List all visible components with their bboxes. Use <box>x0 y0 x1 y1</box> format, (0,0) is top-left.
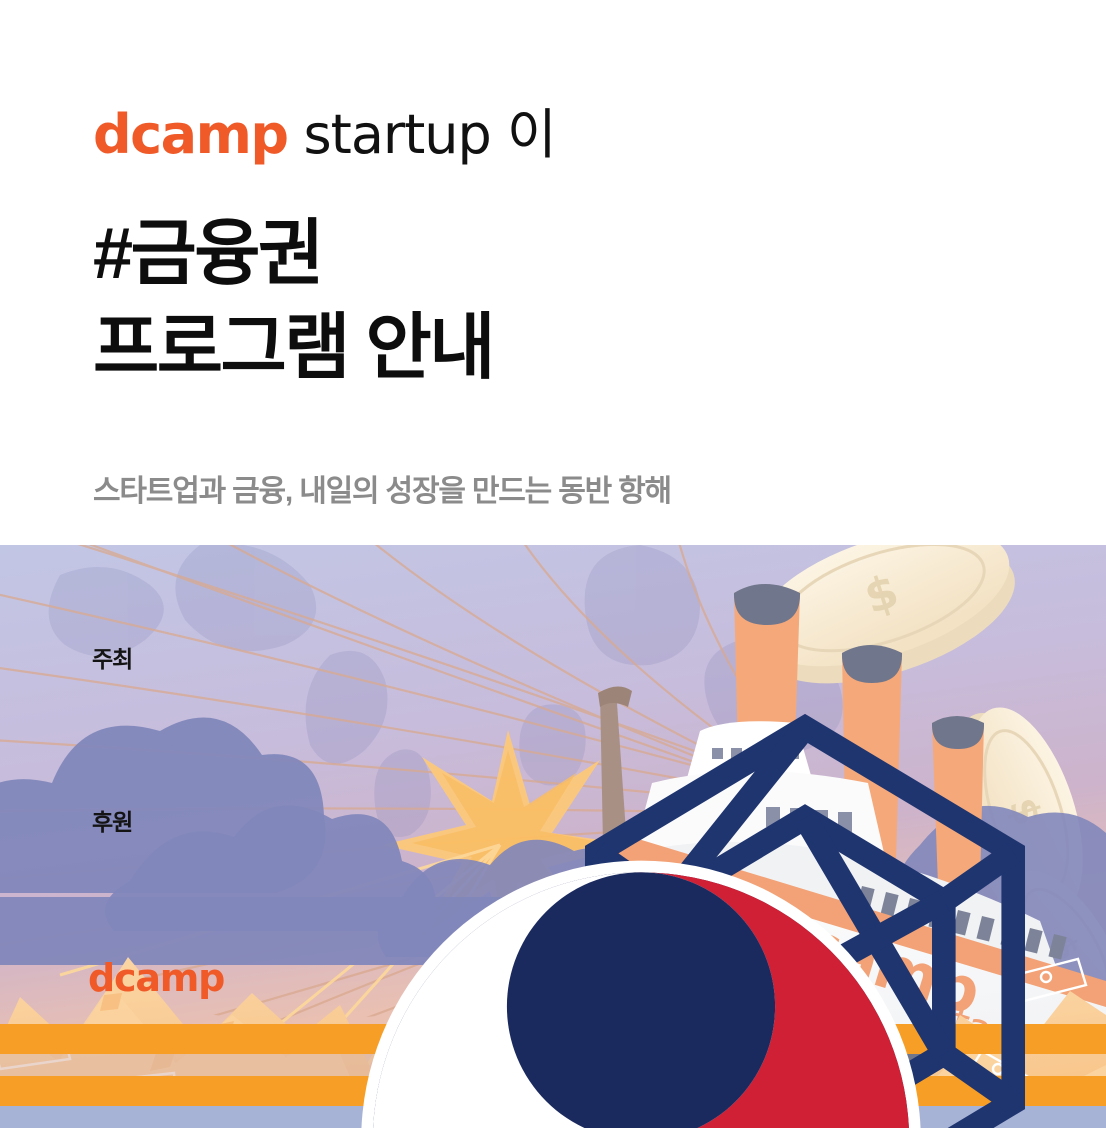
page-title-line-1: #금융권 <box>93 214 322 294</box>
page-title-line-2: 프로그램 안내 <box>93 302 493 396</box>
taegeuk-emblem-icon <box>88 849 1106 1128</box>
host-label: 주최 <box>92 640 1106 674</box>
sponsor-logo-row: 금융위원회 한국성장금융 K-G <box>88 849 1106 1128</box>
page-title: #금융권 프로그램 안내 <box>93 208 493 395</box>
page-subtitle: 스타트업과 금융, 내일의 성장을 만드는 동반 항해 <box>93 466 671 510</box>
logo-financial-services-commission: 금융위원회 <box>88 849 1106 1128</box>
brand-logo-startup: startup 이 <box>304 90 556 169</box>
credits-overlay: 주최 dcamp <box>0 545 1106 1128</box>
sponsor-credit-block: 후원 금융위원회 <box>88 803 1106 1128</box>
sponsor-label: 후원 <box>92 803 1106 837</box>
brand-logo-dcamp: dcamp <box>93 103 288 166</box>
brand-logo: dcamp startup 이 <box>93 90 556 169</box>
hero-illustration: $ $ $ <box>0 545 1106 1128</box>
header-section: dcamp startup 이 #금융권 프로그램 안내 스타트업과 금융, 내… <box>0 0 1106 545</box>
